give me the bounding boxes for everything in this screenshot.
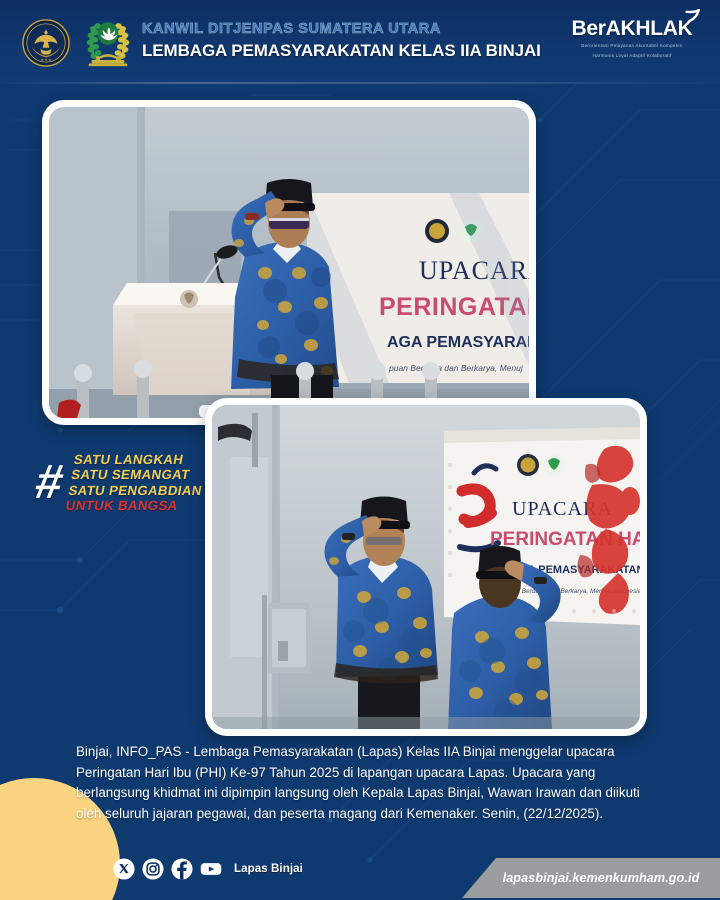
x-twitter-icon[interactable] xyxy=(113,858,135,880)
facebook-icon[interactable] xyxy=(171,858,193,880)
svg-text:AGA PEMASYARAKATAN: AGA PEMASYARAKATAN xyxy=(387,334,529,351)
header-titles: KANWIL DITJENPAS SUMATERA UTARA LEMBAGA … xyxy=(142,21,541,61)
instagram-icon[interactable] xyxy=(142,858,164,880)
photo-ceremony-podium[interactable]: UPACARA PERINGATAN HA AGA PEMASYARAKATAN… xyxy=(42,100,536,425)
berakhlak-logo: BerAKHLAK Berorientasi Pelayanan Akuntab… xyxy=(562,18,702,59)
berakhlak-sub-line1: Berorientasi Pelayanan Akuntabel Kompete… xyxy=(562,43,702,50)
pemasyarakatan-logo-icon xyxy=(82,16,134,70)
berakhlak-sub-line2: Harmonis Loyal Adaptif Kolaboratif xyxy=(562,53,702,60)
hashtag-icon: # xyxy=(33,463,67,502)
header-bar: ★ ★ ★ xyxy=(0,0,720,84)
website-url-badge[interactable]: lapasbinjai.kemenkumham.go.id xyxy=(462,858,720,898)
slogan-line-3: SATU PENGABDIAN xyxy=(67,483,203,498)
footer-bar: Lapas Binjai lapasbinjai.kemenkumham.go.… xyxy=(0,844,720,900)
swoosh-check-icon xyxy=(685,9,701,29)
slogan-block: # SATU LANGKAH SATU SEMANGAT SATU PENGAB… xyxy=(36,452,203,513)
svg-text:★ ★ ★: ★ ★ ★ xyxy=(41,58,52,62)
header-kanwil-line: KANWIL DITJENPAS SUMATERA UTARA xyxy=(142,21,541,37)
svg-text:puan Berdaya dan Berkarya, Men: puan Berdaya dan Berkarya, Menuj xyxy=(388,363,524,373)
berakhlak-prefix: Ber xyxy=(572,17,606,40)
social-handle-label: Lapas Binjai xyxy=(234,863,303,875)
slogan-line-2: SATU SEMANGAT xyxy=(70,467,206,482)
berakhlak-main: AKHLAK xyxy=(606,17,693,40)
poster-canvas: ★ ★ ★ xyxy=(0,0,720,900)
social-links: Lapas Binjai xyxy=(113,858,303,880)
youtube-icon[interactable] xyxy=(200,858,222,880)
photo-ceremony-salute[interactable]: UPACARA PERINGATAN HARI IBU LEMBAGA PEMA… xyxy=(205,398,647,736)
header-lembaga-line: LEMBAGA PEMASYARAKATAN KELAS IIA BINJAI xyxy=(142,41,541,61)
website-url-text: lapasbinjai.kemenkumham.go.id xyxy=(483,871,700,885)
photo-bottom-image: UPACARA PERINGATAN HARI IBU LEMBAGA PEMA… xyxy=(212,405,640,729)
slogan-line-1: SATU LANGKAH xyxy=(72,452,208,467)
caption-text: Binjai, INFO_PAS - Lembaga Pemasyarakata… xyxy=(76,742,656,824)
slogan-line-4: UNTUK BANGSA xyxy=(64,498,200,513)
garuda-emblem-icon: ★ ★ ★ xyxy=(22,19,70,67)
photo-top-image: UPACARA PERINGATAN HA AGA PEMASYARAKATAN… xyxy=(49,107,529,418)
berakhlak-wordmark: BerAKHLAK xyxy=(572,18,693,39)
slogan-lines: SATU LANGKAH SATU SEMANGAT SATU PENGABDI… xyxy=(64,452,208,513)
